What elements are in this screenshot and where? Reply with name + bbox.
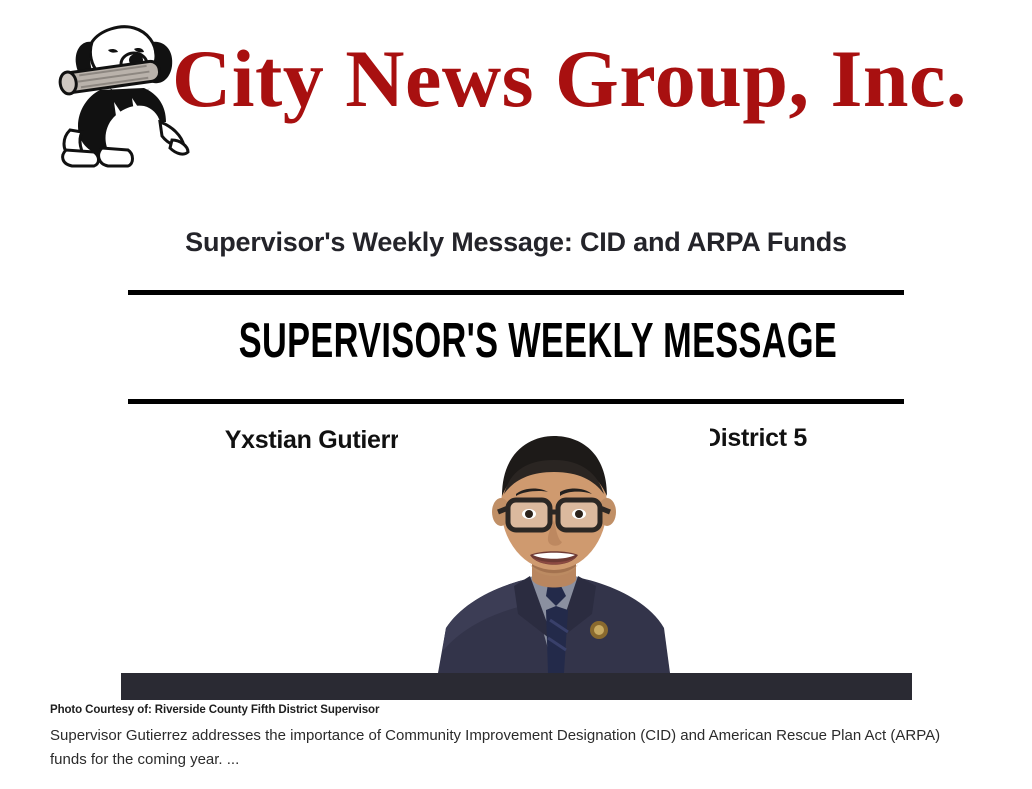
article-headline[interactable]: Supervisor's Weekly Message: CID and ARP… [0, 227, 1032, 258]
photo-footer-bar [121, 673, 912, 700]
banner-rule-top [128, 290, 904, 295]
photo-credit-caption: Photo Courtesy of: Riverside County Fift… [50, 704, 379, 716]
article-body-text: Supervisor Gutierrez addresses the impor… [50, 724, 962, 772]
banner-title: SUPERVISOR'S WEEKLY MESSAGE [239, 310, 793, 372]
supervisor-portrait [398, 424, 710, 673]
site-masthead: City News Group, Inc. [0, 0, 1032, 190]
banner-rule-bottom [128, 399, 904, 404]
brand-wordmark[interactable]: City News Group, Inc. [172, 38, 992, 120]
article-featured-graphic[interactable]: SUPERVISOR'S WEEKLY MESSAGE Yxstian Guti… [120, 288, 912, 700]
